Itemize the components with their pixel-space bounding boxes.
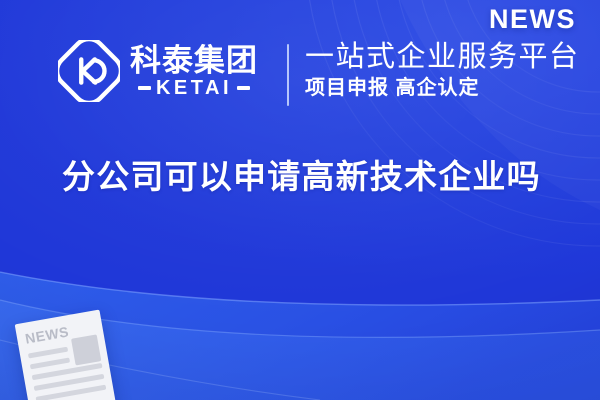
header-tagline: 一站式企业服务平台 项目申报 高企认定 [305,41,580,100]
news-badge: NEWS [489,6,576,33]
banner-header: 科泰集团 KETAI 一站式企业服务平台 项目申报 高企认定 NEWS [0,0,600,140]
brand-logo[interactable]: 科泰集团 KETAI [58,40,258,102]
newspaper-line [28,347,68,359]
tagline-main-text: 一站式企业服务平台 [305,41,580,74]
newspaper-illustration: NEWS [15,310,116,400]
brand-name-en-row: KETAI [130,78,258,98]
brand-logo-wordmark: 科泰集团 KETAI [130,45,258,98]
news-banner: 科泰集团 KETAI 一站式企业服务平台 项目申报 高企认定 NEWS 分公司可… [0,0,600,400]
dash-right-icon [237,86,250,90]
ketai-diamond-monogram-icon [58,40,120,102]
brand-name-cn: 科泰集团 [130,45,258,76]
tagline-sub-text: 项目申报 高企认定 [305,77,580,100]
newspaper-content: NEWS [24,320,108,400]
newspaper-text-lines [28,341,107,400]
page-title: 分公司可以申请高新技术企业吗 [62,156,541,197]
brand-name-en: KETAI [156,78,232,98]
newspaper-line [30,357,70,369]
header-divider [287,44,289,106]
dash-left-icon [138,86,151,90]
